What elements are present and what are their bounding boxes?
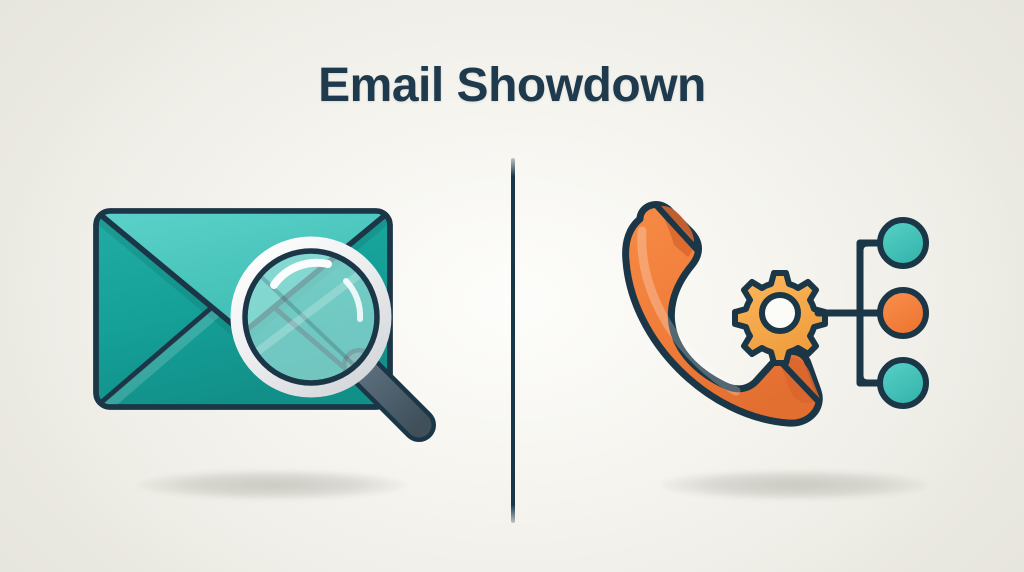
routing-node-bottom [880,360,926,406]
phone-gear-routing-artwork [612,185,952,460]
routing-node-middle [880,290,926,336]
magnifier-handle [359,365,419,425]
left-panel-email [0,0,512,572]
right-panel-call-routing [512,0,1024,572]
routing-node-top [880,220,926,266]
right-ground-shadow [660,470,928,500]
envelope-with-magnifier-artwork [78,185,458,450]
routing-tree-icon [818,243,880,383]
gear-icon [735,273,825,363]
left-ground-shadow [138,470,406,500]
illustration-canvas: Email Showdown [0,0,1024,572]
